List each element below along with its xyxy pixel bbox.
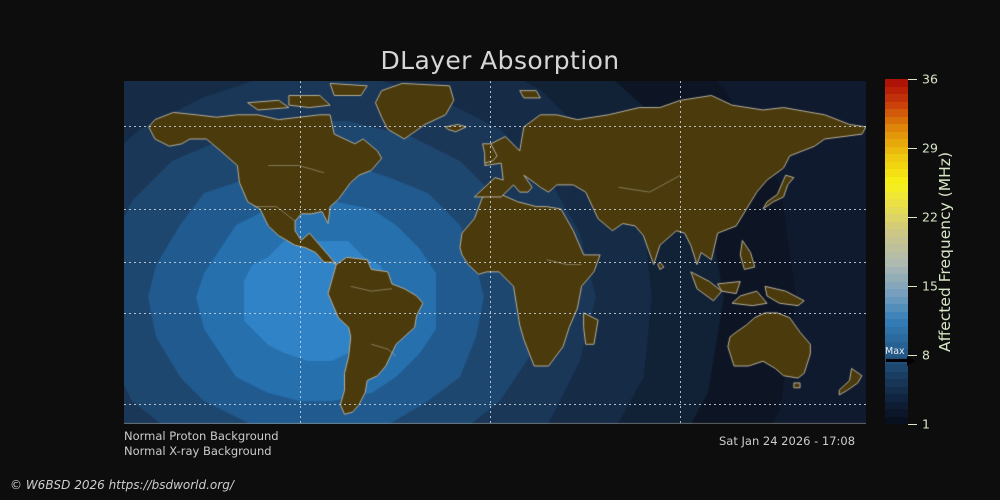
colorbar-segment	[885, 312, 908, 320]
colorbar-segment	[885, 274, 908, 282]
colorbar-segment	[885, 229, 908, 237]
colorbar-tick-mark	[908, 286, 917, 287]
colorbar-segment	[885, 109, 908, 117]
colorbar-segment	[885, 147, 908, 155]
colorbar-segment	[885, 372, 908, 380]
max-marker-arrow-shaft	[886, 359, 908, 362]
colorbar-segment	[885, 207, 908, 215]
colorbar-tick-mark	[908, 217, 917, 218]
colorbar-segment	[885, 139, 908, 147]
world-map-panel[interactable]	[124, 81, 866, 424]
dlayer-absorption-map-view: DLayer Absorption Normal Proton Backgrou…	[0, 0, 1000, 500]
colorbar-segment	[885, 379, 908, 387]
colorbar-segment	[885, 79, 908, 87]
colorbar-segment	[885, 289, 908, 297]
colorbar-segment	[885, 184, 908, 192]
colorbar-segment	[885, 177, 908, 185]
copyright-label: © W6BSD 2026 https://bsdworld.org/	[10, 478, 234, 492]
colorbar-segment	[885, 394, 908, 402]
colorbar-tick-mark	[908, 79, 917, 80]
status-xray-background: Normal X-ray Background	[124, 444, 279, 459]
timestamp-label: Sat Jan 24 2026 - 17:08	[719, 434, 855, 448]
colorbar-segment	[885, 319, 908, 327]
max-marker-label: Max	[885, 346, 905, 357]
colorbar-segment	[885, 417, 908, 425]
colorbar-segment	[885, 237, 908, 245]
colorbar-segment	[885, 387, 908, 395]
colorbar-tick-label: 1	[922, 417, 930, 432]
colorbar-segment	[885, 117, 908, 125]
colorbar-segment	[885, 124, 908, 132]
colorbar-segment	[885, 102, 908, 110]
colorbar-segment	[885, 154, 908, 162]
page-title: DLayer Absorption	[0, 46, 1000, 75]
colorbar-segment	[885, 244, 908, 252]
colorbar-segment	[885, 267, 908, 275]
colorbar-segment	[885, 297, 908, 305]
colorbar-segment	[885, 409, 908, 417]
colorbar-segment	[885, 252, 908, 260]
colorbar-segment	[885, 334, 908, 342]
colorbar-axis-label-text: Affected Frequency (MHz)	[936, 152, 954, 352]
colorbar-gradient	[885, 79, 908, 424]
colorbar-segment	[885, 199, 908, 207]
colorbar-tick-mark	[908, 148, 917, 149]
colorbar-segment	[885, 327, 908, 335]
colorbar-segment	[885, 169, 908, 177]
status-proton-background: Normal Proton Background	[124, 429, 279, 444]
colorbar-segment	[885, 304, 908, 312]
absorption-map-canvas	[124, 81, 866, 424]
colorbar-segment	[885, 87, 908, 95]
colorbar-segment	[885, 162, 908, 170]
colorbar-segment	[885, 222, 908, 230]
colorbar-axis-label: Affected Frequency (MHz)	[930, 79, 960, 424]
colorbar-segment	[885, 132, 908, 140]
colorbar-segment	[885, 192, 908, 200]
colorbar-segment	[885, 282, 908, 290]
colorbar-tick-mark	[908, 424, 917, 425]
colorbar-segment	[885, 259, 908, 267]
status-text-block: Normal Proton Background Normal X-ray Ba…	[124, 429, 279, 459]
max-marker-arrow-head	[907, 356, 915, 366]
max-marker: Max	[884, 346, 924, 372]
colorbar-segment	[885, 402, 908, 410]
colorbar-segment	[885, 94, 908, 102]
colorbar-segment	[885, 214, 908, 222]
